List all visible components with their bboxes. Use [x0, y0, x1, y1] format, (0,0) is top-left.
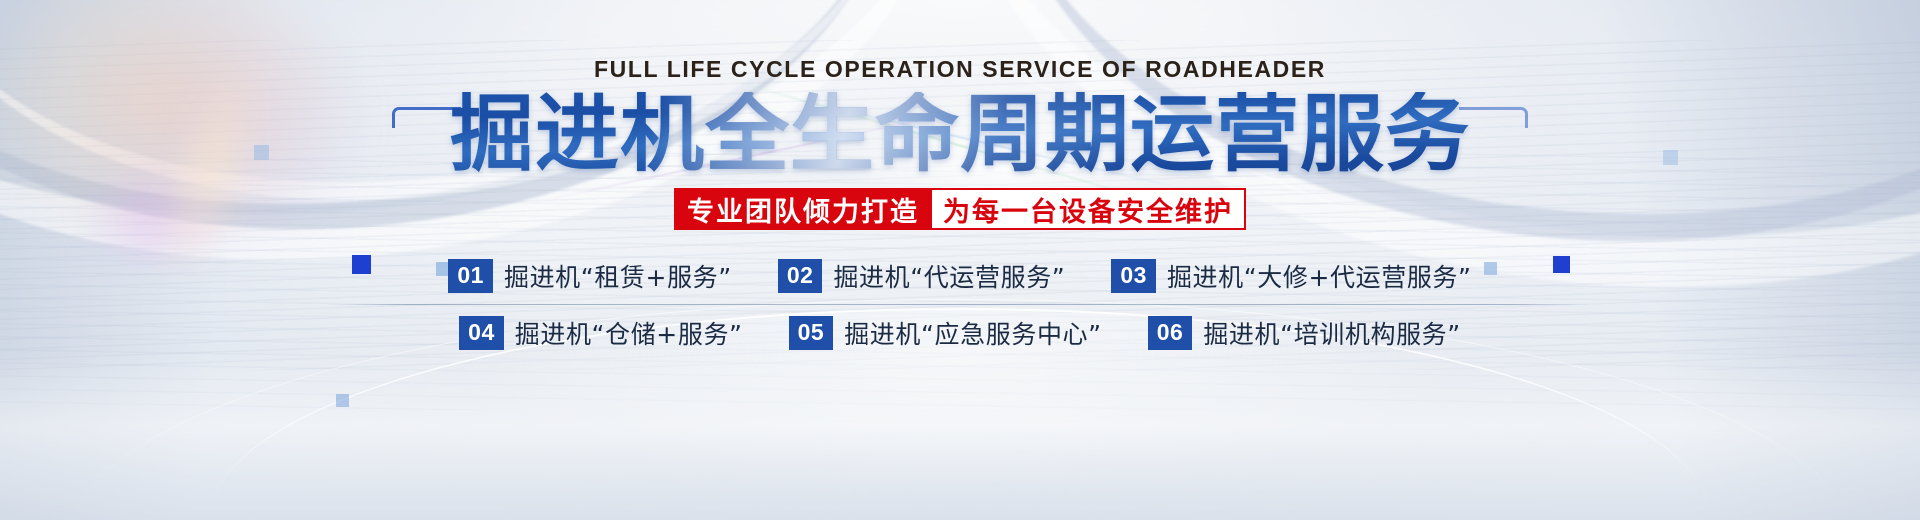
- list-item[interactable]: 03 掘进机“大修+代运营服务”: [1111, 258, 1471, 294]
- service-number-badge: 01: [448, 259, 493, 293]
- service-number-badge: 03: [1111, 259, 1156, 293]
- service-row-top: 01 掘进机“租赁+服务” 02 掘进机“代运营服务” 03 掘进机“大修+代运…: [448, 248, 1471, 304]
- hero-banner: FULL LIFE CYCLE OPERATION SERVICE OF ROA…: [0, 0, 1920, 520]
- service-label: 掘进机“应急服务中心”: [844, 315, 1102, 351]
- service-label: 掘进机“代运营服务”: [833, 258, 1065, 294]
- service-row-bottom: 04 掘进机“仓储+服务” 05 掘进机“应急服务中心” 06 掘进机“培训机构…: [459, 305, 1461, 361]
- service-label: 掘进机“培训机构服务”: [1203, 315, 1461, 351]
- list-item[interactable]: 06 掘进机“培训机构服务”: [1148, 315, 1461, 351]
- list-item[interactable]: 04 掘进机“仓储+服务”: [459, 315, 742, 351]
- banner-content: FULL LIFE CYCLE OPERATION SERVICE OF ROA…: [0, 0, 1920, 520]
- service-number-badge: 02: [778, 259, 823, 293]
- service-number-badge: 06: [1148, 316, 1193, 350]
- list-item[interactable]: 01 掘进机“租赁+服务”: [448, 258, 731, 294]
- list-item[interactable]: 02 掘进机“代运营服务”: [778, 258, 1066, 294]
- service-number-badge: 04: [459, 316, 504, 350]
- banner-headline: 掘进机全生命周期运营服务: [0, 92, 1920, 178]
- banner-eyebrow-text: FULL LIFE CYCLE OPERATION SERVICE OF ROA…: [0, 56, 1920, 83]
- service-list: 01 掘进机“租赁+服务” 02 掘进机“代运营服务” 03 掘进机“大修+代运…: [0, 248, 1920, 361]
- list-item[interactable]: 05 掘进机“应急服务中心”: [789, 315, 1102, 351]
- service-label: 掘进机“租赁+服务”: [504, 258, 732, 294]
- tagline-right: 为每一台设备安全维护: [932, 188, 1246, 230]
- tagline-left: 专业团队倾力打造: [674, 188, 932, 230]
- tagline-strip: 专业团队倾力打造 为每一台设备安全维护: [0, 188, 1920, 230]
- service-number-badge: 05: [789, 316, 834, 350]
- service-label: 掘进机“仓储+服务”: [515, 315, 743, 351]
- service-label: 掘进机“大修+代运营服务”: [1167, 258, 1472, 294]
